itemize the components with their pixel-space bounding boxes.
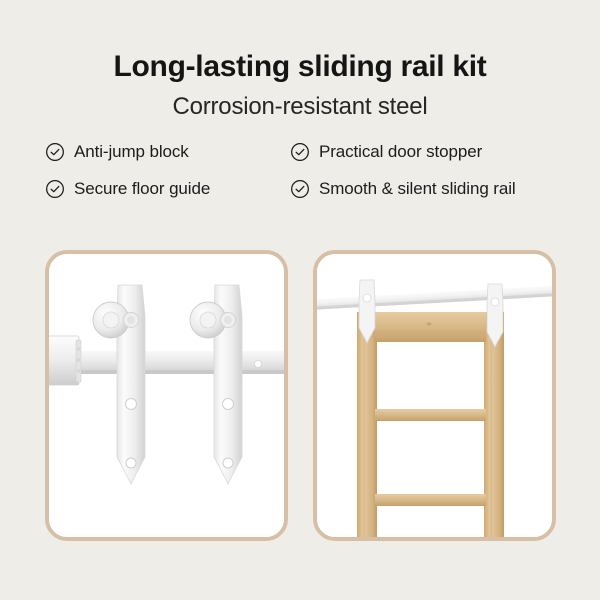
header: Long-lasting sliding rail kit Corrosion-… [0, 0, 600, 120]
feature-label: Smooth & silent sliding rail [319, 179, 516, 199]
feature-item-smooth-silent-sliding-rail: Smooth & silent sliding rail [290, 179, 555, 199]
check-circle-icon [45, 142, 65, 162]
feature-label: Practical door stopper [319, 142, 482, 162]
feature-item-anti-jump-block: Anti-jump block [45, 142, 290, 162]
product-banner: Long-lasting sliding rail kit Corrosion-… [0, 0, 600, 600]
check-circle-icon [290, 142, 310, 162]
end-stop-block [49, 336, 81, 385]
image-card-group [45, 250, 556, 541]
hardware-illustration [49, 254, 284, 537]
page-subtitle: Corrosion-resistant steel [0, 94, 600, 120]
feature-label: Secure floor guide [74, 179, 210, 199]
installation-illustration [317, 254, 552, 537]
check-circle-icon [45, 179, 65, 199]
check-circle-icon [290, 179, 310, 199]
hardware-photo-card [45, 250, 288, 541]
feature-item-practical-door-stopper: Practical door stopper [290, 142, 555, 162]
feature-label: Anti-jump block [74, 142, 189, 162]
installation-photo-card [313, 250, 556, 541]
feature-item-secure-floor-guide: Secure floor guide [45, 179, 290, 199]
feature-list: Anti-jump block Practical door stopper S… [45, 142, 555, 199]
page-title: Long-lasting sliding rail kit [0, 50, 600, 83]
